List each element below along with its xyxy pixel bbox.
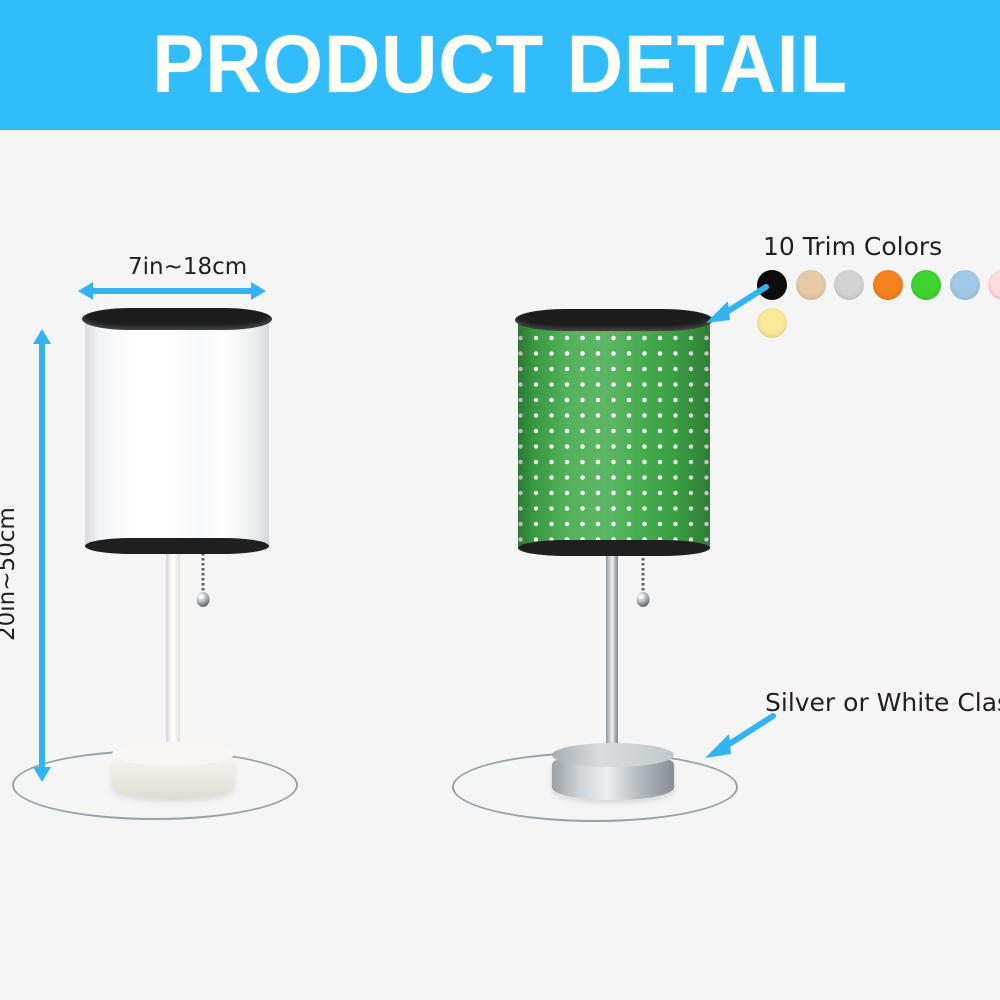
swatch-tan[interactable] [796,270,826,300]
pull-chain-beads [202,548,205,592]
swatch-light-gray[interactable] [834,270,864,300]
trim-color-swatch-row-2 [757,308,1000,338]
swatch-green[interactable] [911,270,941,300]
pull-chain-ball-green [637,592,650,607]
trim-colors-label: 10 Trim Colors [763,232,942,261]
page-title: PRODUCT DETAIL [152,24,848,106]
swatch-light-blue[interactable] [950,270,980,300]
lamp-shade-white [85,318,269,550]
shade-trim-bottom-white [85,538,269,554]
base-finish-pointer-arrow [697,712,777,762]
lamp-shade-green [518,320,710,550]
pull-chain-ball [197,592,210,607]
page-header-banner: PRODUCT DETAIL [0,0,1000,130]
lamp-stem-silver [606,548,618,760]
shade-trim-bottom-green [518,540,710,556]
shade-shading-overlay [518,320,710,550]
pull-chain-green[interactable] [636,548,650,610]
width-dimension-label: 7in~18cm [128,254,247,280]
swatch-pink[interactable] [988,270,1000,300]
trim-colors-pointer-arrow [700,283,770,328]
product-detail-page: PRODUCT DETAIL 7in~18cm 20in~50cm [0,0,1000,1000]
trim-color-swatch-row-1 [757,270,1000,300]
pull-chain-white[interactable] [196,548,210,610]
shade-trim-top-green [515,309,713,331]
swatch-orange[interactable] [873,270,903,300]
lamp-stem-white [166,548,180,760]
lamp-base-silver-top [552,743,674,767]
lamp-base-white-top [112,742,234,766]
shade-trim-top-white [82,308,272,330]
height-dimension-arrow [39,343,45,768]
base-finish-label: Silver or White Classy [765,688,1000,717]
trim-color-swatches [757,270,1000,346]
height-dimension-label: 20in~50cm [0,507,20,641]
width-dimension-arrow [92,288,252,294]
